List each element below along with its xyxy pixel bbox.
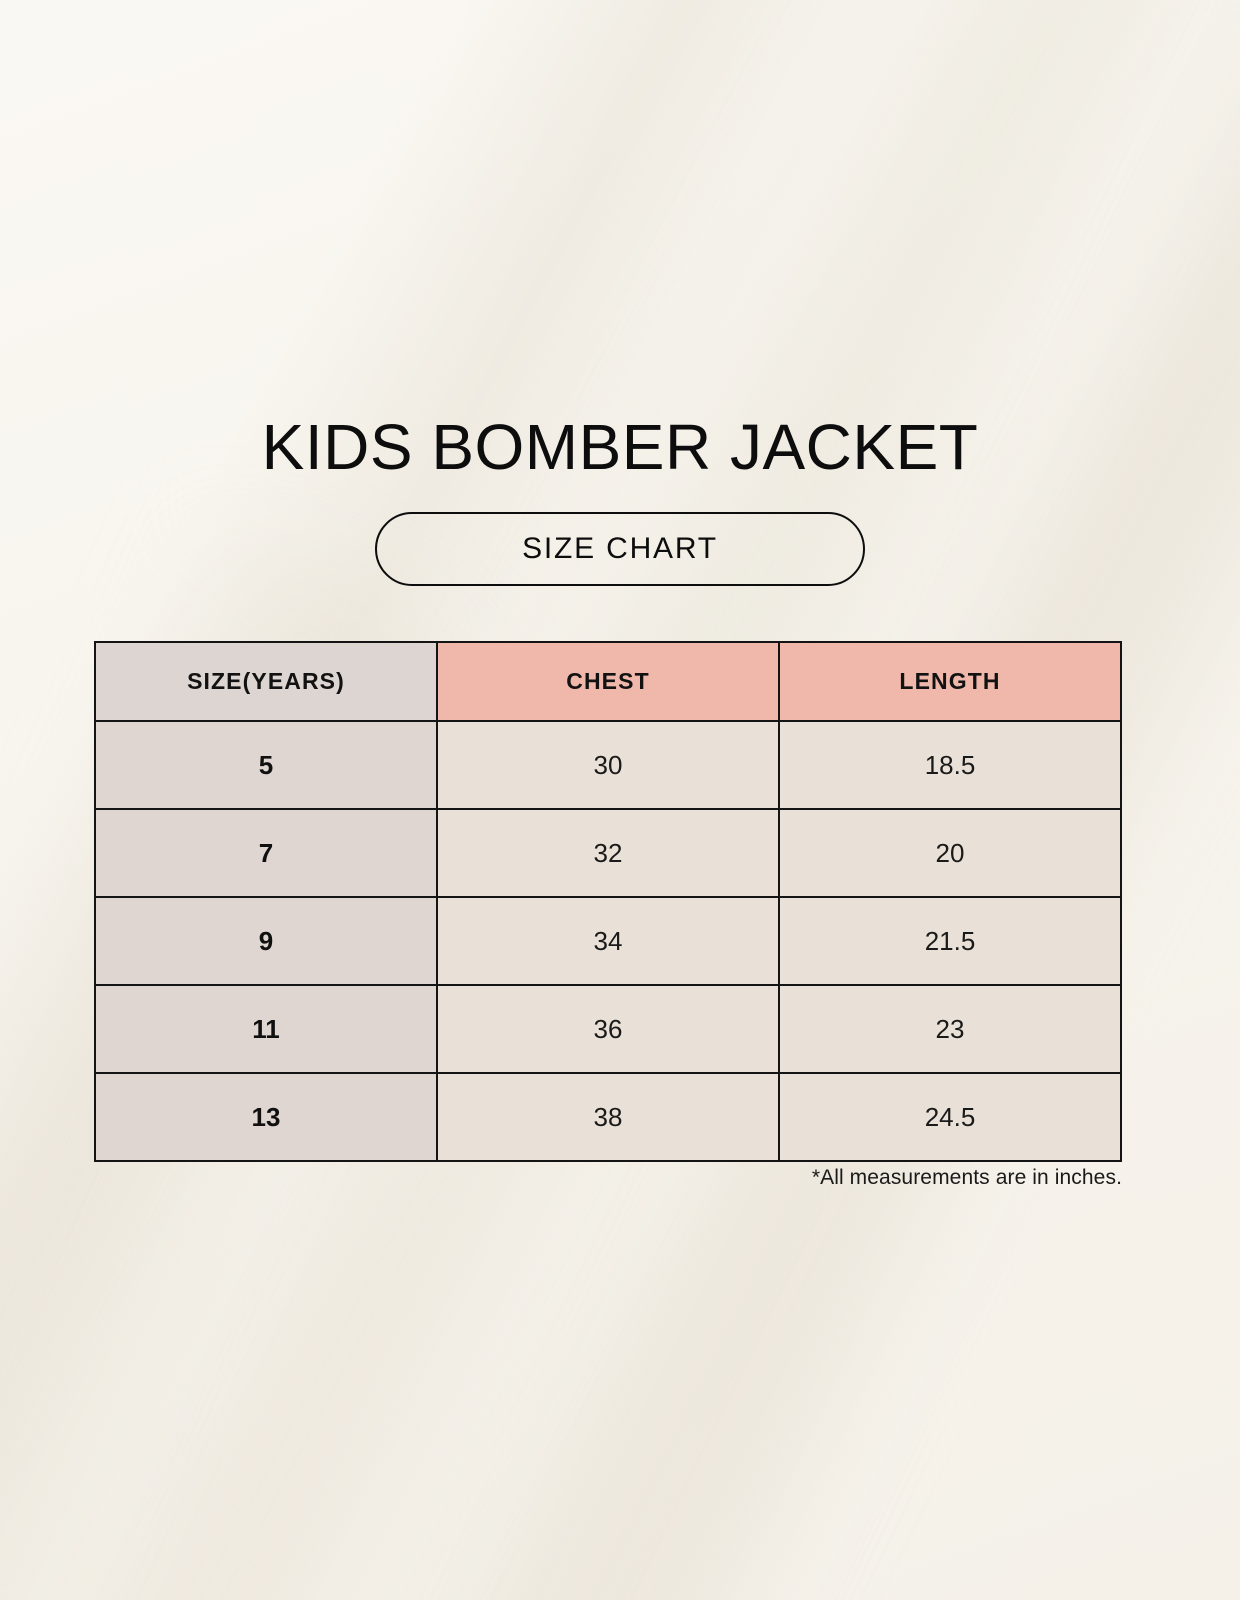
size-table: SIZE(YEARS) CHEST LENGTH 5 30 18.5 7 32 …: [94, 641, 1122, 1162]
size-chart-page: KIDS BOMBER JACKET SIZE CHART SIZE(YEARS…: [0, 0, 1240, 1600]
page-title: KIDS BOMBER JACKET: [0, 415, 1240, 479]
table-header-row: SIZE(YEARS) CHEST LENGTH: [95, 642, 1121, 721]
cell-chest: 34: [437, 897, 779, 985]
cell-chest: 38: [437, 1073, 779, 1161]
table-row: 7 32 20: [95, 809, 1121, 897]
cell-size: 5: [95, 721, 437, 809]
cell-size: 9: [95, 897, 437, 985]
table-row: 5 30 18.5: [95, 721, 1121, 809]
size-chart-badge: SIZE CHART: [375, 512, 865, 586]
cell-size: 7: [95, 809, 437, 897]
column-header-size: SIZE(YEARS): [95, 642, 437, 721]
measurement-units-note: *All measurements are in inches.: [94, 1166, 1122, 1190]
cell-length: 21.5: [779, 897, 1121, 985]
cell-chest: 32: [437, 809, 779, 897]
table-row: 9 34 21.5: [95, 897, 1121, 985]
size-chart-badge-label: SIZE CHART: [522, 532, 718, 566]
cell-chest: 36: [437, 985, 779, 1073]
cell-length: 18.5: [779, 721, 1121, 809]
badge-container: SIZE CHART: [0, 512, 1240, 586]
cell-size: 11: [95, 985, 437, 1073]
size-table-container: SIZE(YEARS) CHEST LENGTH 5 30 18.5 7 32 …: [94, 641, 1122, 1162]
cell-length: 20: [779, 809, 1121, 897]
cell-chest: 30: [437, 721, 779, 809]
cell-length: 24.5: [779, 1073, 1121, 1161]
table-row: 11 36 23: [95, 985, 1121, 1073]
column-header-length: LENGTH: [779, 642, 1121, 721]
table-row: 13 38 24.5: [95, 1073, 1121, 1161]
cell-size: 13: [95, 1073, 437, 1161]
cell-length: 23: [779, 985, 1121, 1073]
column-header-chest: CHEST: [437, 642, 779, 721]
size-table-body: 5 30 18.5 7 32 20 9 34 21.5 11 36 23: [95, 721, 1121, 1161]
size-table-header: SIZE(YEARS) CHEST LENGTH: [95, 642, 1121, 721]
